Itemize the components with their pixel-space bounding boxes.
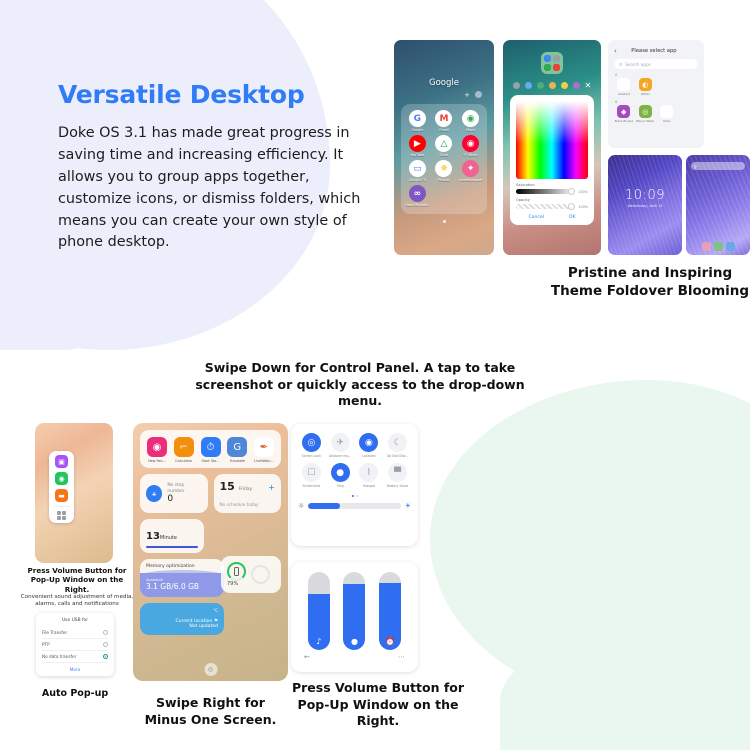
music-note-icon: ♪ bbox=[308, 637, 330, 646]
app-icon: ◐ bbox=[639, 78, 652, 91]
page-dot-inactive bbox=[356, 495, 358, 497]
color-swatch-4[interactable] bbox=[549, 82, 556, 89]
control-panel-card: ◎Screen Lock✈Airplane mo...◉Location☾Do … bbox=[291, 424, 418, 546]
usb-option-row[interactable]: PTP bbox=[42, 639, 108, 651]
alarm-clock-icon: ⏰ bbox=[379, 637, 401, 646]
phone-home-screen: ⚲ bbox=[686, 155, 750, 255]
toggle-hotspot[interactable]: ⌇Hotspot bbox=[356, 463, 383, 488]
running-icon: ⚹ bbox=[146, 485, 162, 502]
battery-icon bbox=[227, 562, 246, 581]
select-app-header: ‹ Please select app bbox=[608, 40, 704, 59]
folder-controls: + bbox=[394, 88, 494, 99]
app-icon: ✒ bbox=[254, 437, 274, 457]
usb-option-list: File TransferPTPNo data transfer bbox=[42, 627, 108, 663]
select-app-item[interactable]: ✦Assistant bbox=[614, 78, 634, 96]
toggle-label: Battery Saver bbox=[387, 484, 409, 488]
opacity-value: 100% bbox=[578, 205, 588, 209]
home-indicator-dot bbox=[443, 220, 446, 223]
phone-smart-sidebar: ▣◉▬ bbox=[35, 423, 113, 563]
alarm-volume[interactable]: ⏰ bbox=[379, 572, 401, 650]
select-app-title: Please select app bbox=[617, 48, 691, 54]
plus-icon[interactable]: + bbox=[464, 91, 470, 99]
brightness-slider-row: ☼ ☀ bbox=[298, 502, 411, 510]
sidebar-caption-title: Press Volume Button for Pop-Up Window on… bbox=[18, 566, 136, 594]
dock-app-3[interactable] bbox=[726, 242, 735, 251]
usb-option-label: No data transfer bbox=[42, 654, 76, 659]
toggle-label: Do Not Dist... bbox=[387, 454, 408, 458]
radio-button[interactable] bbox=[103, 642, 108, 647]
memory-available-value: 3.1 GB/6.0 GB bbox=[146, 582, 218, 591]
plus-icon[interactable]: + bbox=[268, 483, 275, 492]
app-icon: ✵ bbox=[435, 160, 452, 177]
saturation-knob[interactable] bbox=[568, 188, 575, 195]
app-label: Bitcoin Wallet bbox=[636, 119, 654, 123]
folder-app-5[interactable]: △Drive bbox=[432, 135, 457, 157]
phone-lock-screen: 10:09 Wednesday, April 13 bbox=[608, 155, 682, 255]
search-apps-placeholder: Search apps bbox=[625, 62, 651, 67]
more-dot-icon[interactable] bbox=[475, 91, 482, 98]
versatile-desktop-headline: Versatile Desktop bbox=[58, 80, 368, 109]
usb-dialog-title: Use USB for bbox=[42, 618, 108, 623]
app-label: LiveWallpaper bbox=[459, 178, 483, 182]
battery-widget[interactable]: 79% bbox=[221, 556, 281, 593]
home-circle-icon[interactable]: ◎ bbox=[204, 663, 217, 676]
minutes-widget[interactable]: 13Minute bbox=[140, 519, 204, 553]
app-icon: G bbox=[409, 110, 426, 127]
opacity-knob[interactable] bbox=[568, 203, 575, 210]
saturation-value: 100% bbox=[578, 190, 588, 194]
folder-app-2[interactable]: MGmail bbox=[432, 110, 457, 132]
close-icon[interactable]: ✕ bbox=[585, 82, 592, 89]
widget-app-5[interactable]: ✒LiveWallp... bbox=[251, 437, 277, 463]
select-app-item[interactable]: ◐AllTrail bbox=[636, 78, 656, 96]
app-label: Yahoo bbox=[663, 119, 671, 123]
battery-percent: 79% bbox=[227, 581, 246, 587]
toggle-label: Location bbox=[362, 454, 375, 458]
app-icon: ⏱ bbox=[201, 437, 221, 457]
back-arrow-icon[interactable]: ← bbox=[304, 653, 310, 661]
minutes-progress-bar bbox=[146, 546, 198, 548]
select-app-row-b: ◆Brave Browser◎Bitcoin WalletYYahoo bbox=[608, 105, 704, 123]
app-group-icon[interactable] bbox=[541, 52, 563, 74]
brightness-fill bbox=[308, 503, 339, 509]
color-swatch-row: ✕ bbox=[503, 82, 601, 89]
app-label: Translate bbox=[230, 459, 245, 463]
weather-status: Not updated bbox=[146, 624, 218, 629]
location-pin-icon: ◉ bbox=[359, 433, 378, 452]
divider bbox=[54, 506, 70, 507]
toggle-location-pin[interactable]: ◉Location bbox=[356, 433, 383, 458]
app-icon: ⌐ bbox=[174, 437, 194, 457]
opacity-label: Opacity bbox=[516, 198, 588, 202]
toggle-label: Screenshot bbox=[302, 484, 320, 488]
usb-option-label: File Transfer bbox=[42, 630, 67, 635]
brightness-high-icon: ☀ bbox=[405, 502, 411, 510]
widget-quick-apps: ◉New Rec...⌐Calculator⏱Start Sto...GTran… bbox=[140, 430, 281, 468]
app-label: Brave Browser bbox=[615, 119, 633, 123]
app-label: Maps bbox=[466, 128, 475, 132]
app-label: LiveWallp... bbox=[254, 459, 273, 463]
purple-app-icon[interactable]: ▣ bbox=[55, 455, 68, 468]
home-dock bbox=[686, 242, 750, 251]
search-apps-field[interactable]: ⚲ Search apps bbox=[614, 59, 698, 69]
bell-icon: ● bbox=[331, 463, 350, 482]
app-icon: ◉ bbox=[462, 110, 479, 127]
toggle-label: Ring bbox=[337, 484, 344, 488]
media-volume[interactable]: ♪ bbox=[308, 572, 330, 650]
app-icon: ◉ bbox=[462, 135, 479, 152]
select-app-item[interactable]: ◆Brave Browser bbox=[614, 105, 634, 123]
control-panel-caption: Swipe Down for Control Panel. A tap to t… bbox=[185, 360, 535, 410]
phone-select-app: ‹ Please select app ⚲ Search apps A ✦Ass… bbox=[608, 40, 704, 148]
folder-app-4[interactable]: ▶YouTube bbox=[405, 135, 430, 157]
saturation-label: Saturation bbox=[516, 183, 588, 187]
app-label: Photos bbox=[438, 178, 449, 182]
page-stage: Versatile Desktop Doke OS 3.1 has made g… bbox=[0, 0, 750, 750]
cancel-button[interactable]: Cancel bbox=[528, 215, 544, 220]
page-dot-active bbox=[352, 495, 354, 497]
app-label: Start Sto... bbox=[201, 459, 219, 463]
search-icon: ⚲ bbox=[694, 164, 697, 169]
page-indicator-dots bbox=[298, 495, 411, 497]
phone-minus-one-screen: ◉New Rec...⌐Calculator⏱Start Sto...GTran… bbox=[133, 423, 288, 681]
app-icon: ◉ bbox=[147, 437, 167, 457]
green-app-icon[interactable]: ◉ bbox=[55, 472, 68, 485]
smart-sidebar-panel[interactable]: ▣◉▬ bbox=[49, 451, 74, 523]
toggle-screen-lock[interactable]: ◎Screen Lock bbox=[298, 433, 325, 458]
toggle-label: Airplane mo... bbox=[329, 454, 351, 458]
usb-option-row[interactable]: No data transfer bbox=[42, 651, 108, 663]
picker-buttons: Cancel OK bbox=[516, 215, 588, 220]
screen-lock-icon: ◎ bbox=[302, 433, 321, 452]
app-icon: △ bbox=[435, 135, 452, 152]
toggle-airplane[interactable]: ✈Airplane mo... bbox=[327, 433, 354, 458]
opacity-slider-row: 100% bbox=[516, 204, 588, 209]
widget-app-2[interactable]: ⌐Calculator bbox=[171, 437, 197, 463]
saturation-slider-row: 100% bbox=[516, 189, 588, 194]
step-counter-value: 0 bbox=[167, 494, 201, 504]
step-counter-widget[interactable]: ⚹ No step number 0 bbox=[140, 474, 208, 513]
brightness-slider[interactable] bbox=[308, 503, 400, 509]
battery-saver-icon: ▀ bbox=[388, 463, 407, 482]
hotspot-icon: ⌇ bbox=[359, 463, 378, 482]
toggle-moon[interactable]: ☾Do Not Dist... bbox=[384, 433, 411, 458]
app-icon: G bbox=[227, 437, 247, 457]
app-label: Gmail bbox=[439, 128, 449, 132]
color-picker-card: Saturation 100% Opacity 100% Cancel OK bbox=[510, 95, 594, 225]
screenshot-icon: ☐ bbox=[302, 463, 321, 482]
widget-app-3[interactable]: ⏱Start Sto... bbox=[198, 437, 224, 463]
app-icon: Y bbox=[660, 105, 673, 118]
minutes-value: 13 bbox=[146, 531, 160, 542]
folder-app-8[interactable]: ✵Photos bbox=[432, 160, 457, 182]
bell-icon: ● bbox=[343, 637, 365, 646]
home-search-bar[interactable]: ⚲ bbox=[691, 162, 745, 170]
toggle-screenshot[interactable]: ☐Screenshot bbox=[298, 463, 325, 488]
folder-app-grid: GGoogleMGmail◉Maps▶YouTube△Drive◉YT Musi… bbox=[401, 104, 487, 214]
auto-popup-caption: Auto Pop-up bbox=[30, 688, 120, 701]
color-swatch-1[interactable] bbox=[513, 82, 520, 89]
orange-app-icon[interactable]: ▬ bbox=[55, 489, 68, 502]
control-panel-toggle-grid: ◎Screen Lock✈Airplane mo...◉Location☾Do … bbox=[298, 433, 411, 488]
app-label: Assistant bbox=[618, 92, 630, 96]
app-icon: ◎ bbox=[639, 105, 652, 118]
hue-saturation-field[interactable] bbox=[516, 101, 588, 179]
usb-option-row[interactable]: File Transfer bbox=[42, 627, 108, 639]
volume-slider-card: ♪●⏰ ← ⋯ bbox=[291, 562, 418, 672]
app-label: YouTube bbox=[410, 153, 424, 157]
lock-screen-time: 10:09 bbox=[608, 188, 682, 203]
widget-row-1: ⚹ No step number 0 15 Friday + No schedu… bbox=[140, 474, 281, 513]
folder-app-3[interactable]: ◉Maps bbox=[458, 110, 483, 132]
phone-google-folder: Google + GGoogleMGmail◉Maps▶YouTube△Driv… bbox=[394, 40, 494, 255]
app-label: Drive bbox=[439, 153, 448, 157]
widget-app-4[interactable]: GTranslate bbox=[224, 437, 250, 463]
sidebar-caption-sub: Convenient sound adjustment of media, al… bbox=[18, 594, 136, 609]
search-icon: ⚲ bbox=[619, 62, 622, 67]
color-swatch-3[interactable] bbox=[537, 82, 544, 89]
apps-grid-icon[interactable] bbox=[57, 511, 66, 520]
sidebar-caption-block: Press Volume Button for Pop-Up Window on… bbox=[18, 566, 136, 609]
dock-app-2[interactable] bbox=[714, 242, 723, 251]
radio-button[interactable] bbox=[103, 630, 108, 635]
lock-screen-date: Wednesday, April 13 bbox=[608, 204, 682, 208]
app-label: New Rec... bbox=[148, 459, 166, 463]
app-label: Google TV bbox=[409, 178, 426, 182]
memory-optimization-widget[interactable]: Memory optimization Available 3.1 GB/6.0… bbox=[140, 559, 224, 597]
select-app-row-a: ✦Assistant◐AllTrail bbox=[608, 78, 704, 96]
folder-app-10[interactable]: ∞Data Migratio. bbox=[405, 185, 430, 207]
minutes-unit: Minute bbox=[160, 535, 177, 541]
moon-icon: ☾ bbox=[388, 433, 407, 452]
app-icon: ▶ bbox=[409, 135, 426, 152]
app-icon: ∞ bbox=[409, 185, 426, 202]
toggle-label: Screen Lock bbox=[302, 454, 321, 458]
ring-volume[interactable]: ● bbox=[343, 572, 365, 650]
calendar-empty-text: No schedule today bbox=[220, 502, 276, 507]
saturation-slider[interactable] bbox=[516, 189, 575, 194]
versatile-desktop-body: Doke OS 3.1 has made great progress in s… bbox=[58, 123, 368, 254]
app-icon: M bbox=[435, 110, 452, 127]
app-icon: ▭ bbox=[409, 160, 426, 177]
calendar-day: 15 bbox=[220, 480, 235, 493]
toggle-bell[interactable]: ●Ring bbox=[327, 463, 354, 488]
calendar-weekday: Friday bbox=[239, 487, 252, 492]
section-letter-a: A bbox=[615, 73, 704, 77]
toggle-battery-saver[interactable]: ▀Battery Saver bbox=[384, 463, 411, 488]
step-counter-label: No step number bbox=[167, 483, 201, 494]
weather-widget[interactable]: °C Current location ⚑ Not updated bbox=[140, 603, 224, 635]
volume-panel-footer: ← ⋯ bbox=[301, 650, 408, 661]
usb-preferences-dialog: Use USB for File TransferPTPNo data tran… bbox=[36, 613, 114, 676]
secondary-ring-indicator bbox=[251, 565, 270, 584]
versatile-desktop-section: Versatile Desktop Doke OS 3.1 has made g… bbox=[58, 80, 368, 254]
dock-app-1[interactable] bbox=[702, 242, 711, 251]
widget-app-1[interactable]: ◉New Rec... bbox=[144, 437, 170, 463]
usb-option-label: PTP bbox=[42, 642, 50, 647]
toggle-label: Hotspot bbox=[363, 484, 375, 488]
calendar-widget[interactable]: 15 Friday + No schedule today bbox=[214, 474, 282, 513]
folder-app-7[interactable]: ▭Google TV bbox=[405, 160, 430, 182]
color-swatch-5[interactable] bbox=[561, 82, 568, 89]
ok-button[interactable]: OK bbox=[569, 215, 576, 220]
app-label: Calculator bbox=[175, 459, 192, 463]
folder-app-9[interactable]: ✦LiveWallpaper bbox=[458, 160, 483, 182]
app-icon: ◆ bbox=[617, 105, 630, 118]
app-icon: ✦ bbox=[617, 78, 630, 91]
volume-slider-row: ♪●⏰ bbox=[301, 572, 408, 650]
theme-caption: Pristine and Inspiring Theme Foldover Bl… bbox=[545, 265, 750, 301]
color-swatch-6[interactable] bbox=[573, 82, 580, 89]
app-label: Data Migratio. bbox=[405, 203, 429, 207]
select-app-item[interactable]: ◎Bitcoin Wallet bbox=[636, 105, 656, 123]
radio-button[interactable] bbox=[103, 654, 108, 659]
phone-color-picker: ✕ Saturation 100% Opacity 100% Cancel OK bbox=[503, 40, 601, 255]
color-swatch-2[interactable] bbox=[525, 82, 532, 89]
folder-app-6[interactable]: ◉YT Music bbox=[458, 135, 483, 157]
airplane-icon: ✈ bbox=[331, 433, 350, 452]
widgets-caption: Swipe Right for Minus One Screen. bbox=[133, 695, 288, 728]
folder-app-1[interactable]: GGoogle bbox=[405, 110, 430, 132]
volume-caption: Press Volume Button for Pop-Up Window on… bbox=[288, 680, 468, 730]
select-app-item[interactable]: YYahoo bbox=[657, 105, 677, 123]
weather-degree-unit: °C bbox=[146, 608, 218, 613]
app-label: AllTrail bbox=[641, 92, 650, 96]
section-letter-b: B bbox=[615, 100, 704, 104]
app-label: YT Music bbox=[463, 153, 478, 157]
app-label: Google bbox=[411, 128, 423, 132]
usb-more-link[interactable]: More bbox=[42, 667, 108, 672]
more-dots-icon[interactable]: ⋯ bbox=[398, 653, 405, 661]
folder-title: Google bbox=[394, 78, 494, 88]
app-icon: ✦ bbox=[462, 160, 479, 177]
opacity-slider[interactable] bbox=[516, 204, 575, 209]
brightness-low-icon: ☼ bbox=[298, 502, 304, 510]
